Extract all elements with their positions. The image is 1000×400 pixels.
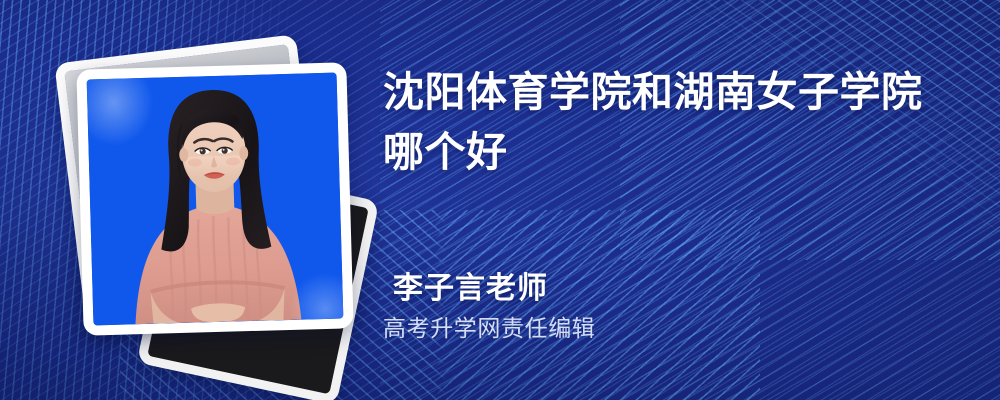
title-block: 沈阳体育学院和湖南女子学院哪个好 — [383, 62, 963, 182]
photo-glare-bottom-right — [251, 236, 343, 326]
page-title: 沈阳体育学院和湖南女子学院哪个好 — [383, 62, 943, 182]
author-block: 李子言老师 高考升学网责任编辑 — [383, 268, 595, 346]
author-role: 高考升学网责任编辑 — [383, 312, 595, 346]
author-photo — [87, 73, 344, 326]
author-name: 李子言老师 — [393, 268, 595, 310]
photo-card-stack — [48, 28, 358, 368]
banner-root: 沈阳体育学院和湖南女子学院哪个好 李子言老师 高考升学网责任编辑 — [0, 0, 1000, 400]
front-photo-card — [76, 62, 353, 335]
